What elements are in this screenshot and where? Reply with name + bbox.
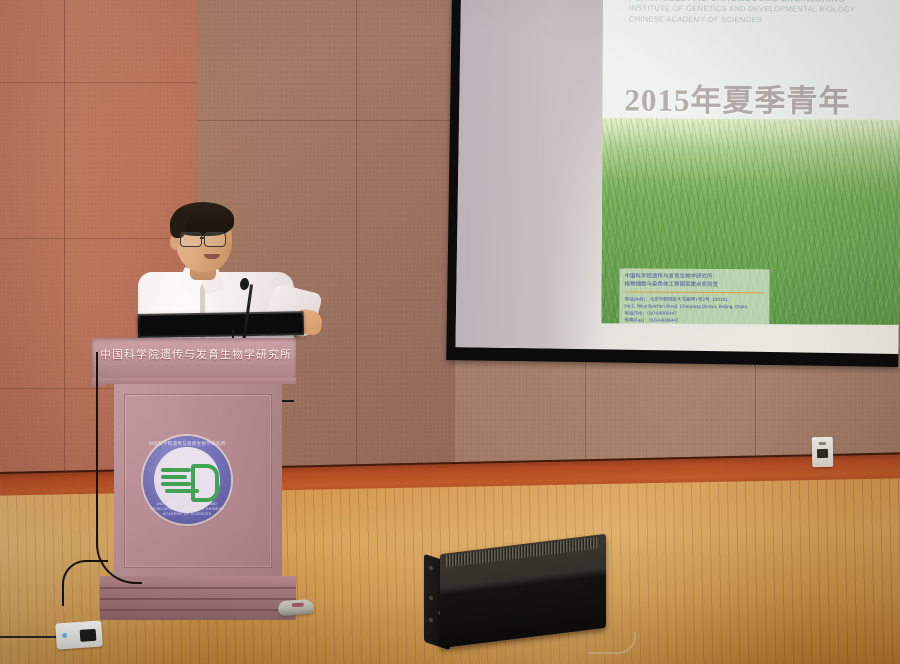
base-molding-line [100, 598, 296, 600]
presenter-mouth [204, 254, 220, 259]
contact-divider [624, 291, 764, 293]
stage-monitor-speaker [420, 536, 616, 646]
institute-emblem-icon: 中国科学院遗传与发育生物学研究所 INSTITUTE OF GENETICS A… [143, 436, 231, 524]
monitor-screw [429, 595, 433, 600]
glasses-lens-left [180, 232, 202, 247]
slide-title: 2015年夏季青年 [624, 74, 850, 120]
wall-outlet-icon [812, 437, 834, 467]
contact-web: http://www.pcce.ioz.ac.cn [624, 323, 764, 325]
conference-hall-photo: PLANT CELL AND CHROMOSOME ENGINEERING IN… [0, 0, 900, 664]
monitor-screw [429, 565, 433, 570]
emblem-leaf-bar [161, 475, 187, 479]
emblem-leaf-bar [161, 482, 191, 486]
slide-header-line3: CHINESE ACADEMY OF SCIENCES [629, 14, 900, 26]
slide-wheat-field-photo: 中国科学院遗传与发育生物学研究所 植物细胞与染色体工程国家重点实验室 地址(Ad… [601, 118, 900, 325]
outlet-slot [819, 442, 826, 445]
wall-seam-horizontal [0, 82, 200, 83]
floor-cable [96, 352, 142, 584]
wall-seam-vertical [356, 0, 357, 500]
contact-cn-line2: 植物细胞与染色体工程国家重点实验室 [625, 281, 765, 290]
emblem-leaf-shape [191, 464, 219, 502]
glasses-icon [180, 232, 230, 246]
glasses-bridge [200, 237, 205, 239]
base-molding-line [100, 609, 296, 611]
floor-cable [62, 560, 108, 606]
projection-screen-surface: PLANT CELL AND CHROMOSOME ENGINEERING IN… [455, 0, 900, 354]
slide-header: PLANT CELL AND CHROMOSOME ENGINEERING IN… [629, 0, 900, 26]
presentation-slide: PLANT CELL AND CHROMOSOME ENGINEERING IN… [601, 0, 900, 325]
glasses-lens-right [204, 232, 226, 247]
presenter-shoe [278, 599, 315, 616]
projection-screen-frame: PLANT CELL AND CHROMOSOME ENGINEERING IN… [446, 0, 900, 367]
outlet-port [817, 449, 828, 458]
wall-seam-vertical [64, 0, 65, 500]
slide-contact-box: 中国科学院遗传与发育生物学研究所 植物细胞与染色体工程国家重点实验室 地址(Ad… [619, 268, 769, 325]
base-molding-line [100, 587, 296, 589]
power-strip-icon [55, 620, 103, 649]
power-strip-led [62, 633, 67, 638]
emblem-leaf-mark [161, 466, 213, 494]
shoe-strap [292, 602, 304, 607]
screen-unlit-area [455, 0, 611, 349]
power-strip-plug [80, 629, 97, 642]
monitor-screw [429, 617, 433, 622]
emblem-leaf-bar [161, 468, 191, 472]
